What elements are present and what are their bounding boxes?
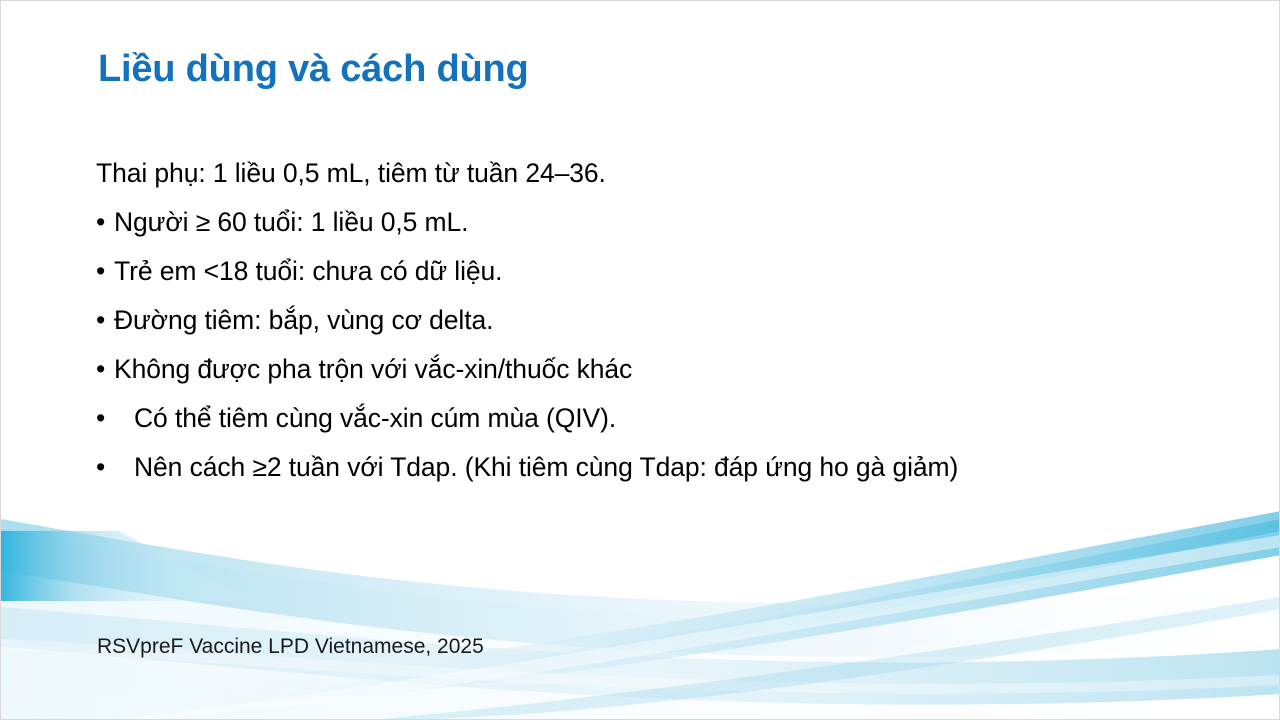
slide-body-list: Thai phụ: 1 liều 0,5 mL, tiêm từ tuần 24… [96,149,1196,492]
bullet-icon: • [96,247,114,296]
body-line-2: •Người ≥ 60 tuổi: 1 liều 0,5 mL. [96,198,1196,247]
body-line-3: •Trẻ em <18 tuổi: chưa có dữ liệu. [96,247,1196,296]
bullet-icon: • [96,394,134,443]
body-line-1-text: Thai phụ: 1 liều 0,5 mL, tiêm từ tuần 24… [96,158,606,188]
bullet-icon: • [96,198,114,247]
body-line-5: •Không được pha trộn với vắc-xin/thuốc k… [96,345,1196,394]
presentation-slide: Liều dùng và cách dùng Thai phụ: 1 liều … [0,0,1280,720]
body-line-5-text: Không được pha trộn với vắc-xin/thuốc kh… [114,354,632,384]
source-citation: RSVpreF Vaccine LPD Vietnamese, 2025 [97,635,484,659]
body-line-4-text: Đường tiêm: bắp, vùng cơ delta. [114,305,493,335]
body-line-1: Thai phụ: 1 liều 0,5 mL, tiêm từ tuần 24… [96,149,1196,198]
body-line-7: •Nên cách ≥2 tuần với Tdap. (Khi tiêm cù… [96,443,1196,492]
body-line-3-text: Trẻ em <18 tuổi: chưa có dữ liệu. [114,256,502,286]
decorative-wave-graphic [1,489,1280,719]
bullet-icon: • [96,443,134,492]
body-line-6: •Có thể tiêm cùng vắc-xin cúm mùa (QIV). [96,394,1196,443]
body-line-4: •Đường tiêm: bắp, vùng cơ delta. [96,296,1196,345]
page-title: Liều dùng và cách dùng [98,48,529,91]
body-line-6-text: Có thể tiêm cùng vắc-xin cúm mùa (QIV). [134,403,616,433]
body-line-2-text: Người ≥ 60 tuổi: 1 liều 0,5 mL. [114,207,468,237]
bullet-icon: • [96,296,114,345]
body-line-7-text: Nên cách ≥2 tuần với Tdap. (Khi tiêm cùn… [134,452,958,482]
bullet-icon: • [96,345,114,394]
